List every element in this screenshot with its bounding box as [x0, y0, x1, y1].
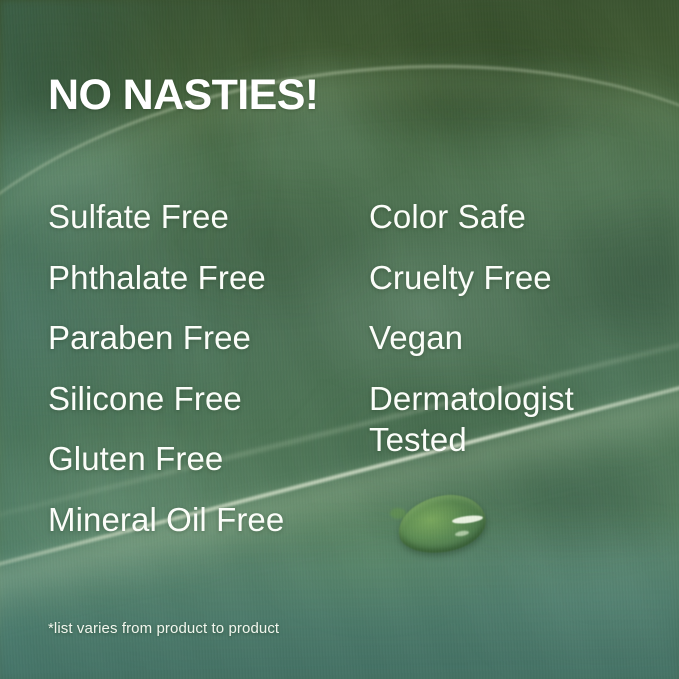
claim-item: Paraben Free: [48, 317, 358, 378]
claims-column-left: Sulfate Free Phthalate Free Paraben Free…: [48, 196, 358, 559]
claim-item: Gluten Free: [48, 438, 358, 499]
content-overlay: NO NASTIES! Sulfate Free Phthalate Free …: [0, 0, 679, 679]
page-title: NO NASTIES!: [48, 74, 319, 117]
claim-item: Vegan: [369, 317, 669, 378]
claim-item: Phthalate Free: [48, 257, 358, 318]
claim-item: Silicone Free: [48, 378, 358, 439]
promo-graphic-canvas: NO NASTIES! Sulfate Free Phthalate Free …: [0, 0, 679, 679]
claim-item: Dermatologist Tested: [369, 378, 669, 479]
claim-item: Cruelty Free: [369, 257, 669, 318]
footnote-disclaimer: *list varies from product to product: [48, 620, 279, 637]
claim-item: Mineral Oil Free: [48, 499, 358, 560]
claims-column-right: Color Safe Cruelty Free Vegan Dermatolog…: [369, 196, 669, 479]
claim-item: Color Safe: [369, 196, 669, 257]
claim-item: Sulfate Free: [48, 196, 358, 257]
